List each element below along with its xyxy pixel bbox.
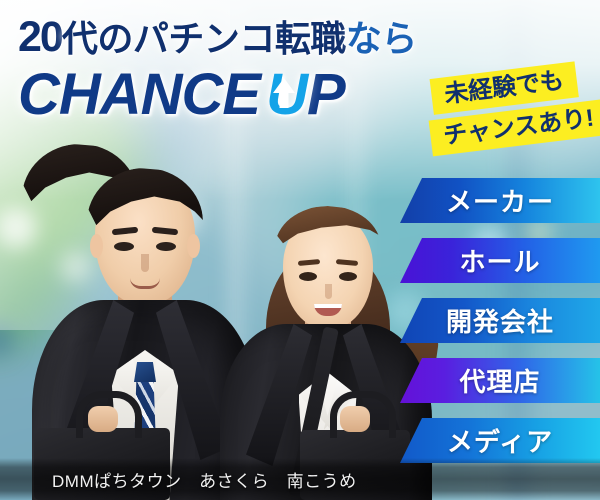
- man-hand: [88, 406, 118, 432]
- category-label-agency: 代理店: [459, 362, 540, 399]
- man-eyebrow-left: [112, 227, 138, 236]
- chance-word: CHANCE: [18, 62, 260, 127]
- recruitment-banner[interactable]: 20代のパチンコ転職なら CHANCEUP 未経験でも チャンスあり! メーカー…: [0, 0, 600, 500]
- credit-bar: DMMぱちタウン あさくら 南こうめ: [0, 458, 600, 500]
- woman-hand: [340, 406, 370, 432]
- up-letter-u: U: [266, 62, 307, 127]
- man-mouth: [130, 278, 160, 289]
- category-button-list: メーカー ホール 開発会社 代理店 メディア: [400, 178, 600, 463]
- category-button-agency[interactable]: 代理店: [400, 358, 600, 403]
- woman-eyebrow-right: [335, 259, 357, 266]
- woman-eyebrow-left: [297, 259, 319, 266]
- woman-head: [283, 212, 373, 328]
- headline-line-1-rest: 代のパチンコ転職: [62, 18, 346, 59]
- headline-number: 20: [18, 13, 62, 61]
- category-label-development-company: 開発会社: [446, 302, 554, 339]
- man-eye-right: [156, 242, 176, 251]
- category-label-hall: ホール: [459, 242, 540, 279]
- category-button-development-company[interactable]: 開発会社: [400, 298, 600, 343]
- man-ear-right: [187, 234, 200, 258]
- headline-block: 20代のパチンコ転職なら CHANCEUP: [18, 16, 438, 126]
- man-head: [95, 176, 195, 304]
- headline-line-2: CHANCEUP: [18, 65, 438, 126]
- people-photo-group: [0, 150, 430, 500]
- woman-bangs: [275, 206, 381, 266]
- man-tie-knot: [134, 362, 156, 382]
- woman-nose: [325, 284, 332, 299]
- category-button-hall[interactable]: ホール: [400, 238, 600, 283]
- category-label-maker: メーカー: [446, 182, 554, 219]
- man-eyebrow-right: [152, 227, 178, 236]
- man-eye-left: [114, 242, 134, 251]
- up-wordmark: UP: [266, 65, 345, 126]
- man-ear-left: [90, 234, 103, 258]
- category-button-media[interactable]: メディア: [400, 418, 600, 463]
- headline-line-1: 20代のパチンコ転職なら: [18, 16, 438, 59]
- headline-line-1-tail: なら: [346, 18, 417, 59]
- category-button-maker[interactable]: メーカー: [400, 178, 600, 223]
- up-letter-p: P: [307, 62, 345, 127]
- woman-eye-left: [299, 272, 317, 281]
- man-nose: [141, 254, 149, 272]
- credit-text: DMMぱちタウン あさくら 南こうめ: [52, 467, 357, 492]
- category-label-media: メディア: [447, 422, 553, 459]
- woman-mouth: [314, 304, 342, 316]
- man-hair-front: [87, 168, 203, 252]
- woman-eye-right: [339, 272, 357, 281]
